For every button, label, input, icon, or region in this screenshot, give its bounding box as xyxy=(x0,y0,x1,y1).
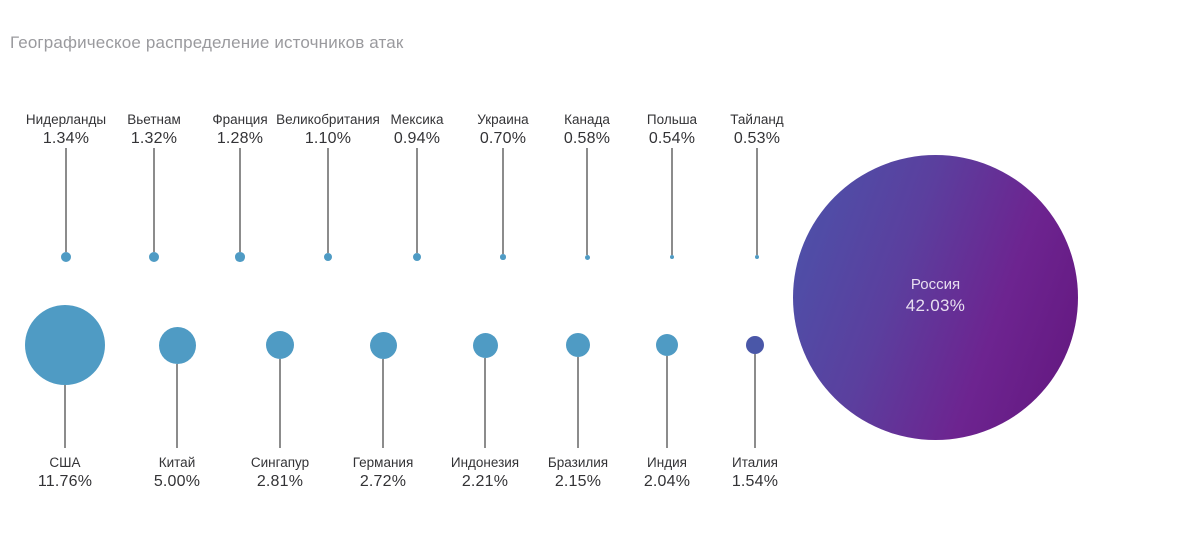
bubble-италия[interactable] xyxy=(746,336,764,354)
stem-line xyxy=(666,356,667,448)
stem-line xyxy=(239,148,240,252)
stem-line xyxy=(577,357,578,448)
bubble-вьетнам[interactable] xyxy=(149,252,159,262)
stem-line xyxy=(64,385,65,448)
stem-line xyxy=(484,358,485,449)
bubble-германия[interactable] xyxy=(370,332,397,359)
bubble-chart: Географическое распределение источников … xyxy=(0,0,1200,550)
bubble-сингапур[interactable] xyxy=(266,331,294,359)
bubble-канада[interactable] xyxy=(585,255,590,260)
bubble-великобритания[interactable] xyxy=(324,253,333,262)
stem-line xyxy=(327,148,328,253)
bubble-label-name: Италия xyxy=(665,453,845,472)
bubble-нидерланды[interactable] xyxy=(61,252,71,262)
stem-line xyxy=(153,148,154,252)
bubble-russia-name: Россия xyxy=(793,275,1078,295)
stem-line xyxy=(176,364,177,449)
bubble-russia-label: Россия 42.03% xyxy=(793,275,1078,316)
bubble-label-value: 0.53% xyxy=(667,129,847,148)
stem-line xyxy=(502,148,503,254)
bubble-польша[interactable] xyxy=(670,255,675,260)
bubble-индия[interactable] xyxy=(656,334,678,356)
stem-line xyxy=(756,148,757,255)
bubble-label-value: 1.54% xyxy=(665,472,845,491)
bubble-label: Италия1.54% xyxy=(665,453,845,491)
stem-line xyxy=(586,148,587,255)
chart-title: Географическое распределение источников … xyxy=(10,33,403,53)
bubble-бразилия[interactable] xyxy=(566,333,590,357)
stem-line xyxy=(416,148,417,253)
stem-line xyxy=(754,354,755,448)
stem-line xyxy=(671,148,672,255)
stem-line xyxy=(382,359,383,449)
stem-line xyxy=(65,148,66,252)
bubble-украина[interactable] xyxy=(500,254,506,260)
bubble-сша[interactable] xyxy=(25,305,105,385)
bubble-китай[interactable] xyxy=(159,327,196,364)
bubble-label: Тайланд0.53% xyxy=(667,110,847,148)
bubble-мексика[interactable] xyxy=(413,253,421,261)
bubble-франция[interactable] xyxy=(235,252,245,262)
bubble-label-name: Тайланд xyxy=(667,110,847,129)
bubble-тайланд[interactable] xyxy=(755,255,760,260)
stem-line xyxy=(279,359,280,448)
bubble-russia-value: 42.03% xyxy=(793,295,1078,316)
bubble-индонезия[interactable] xyxy=(473,333,498,358)
